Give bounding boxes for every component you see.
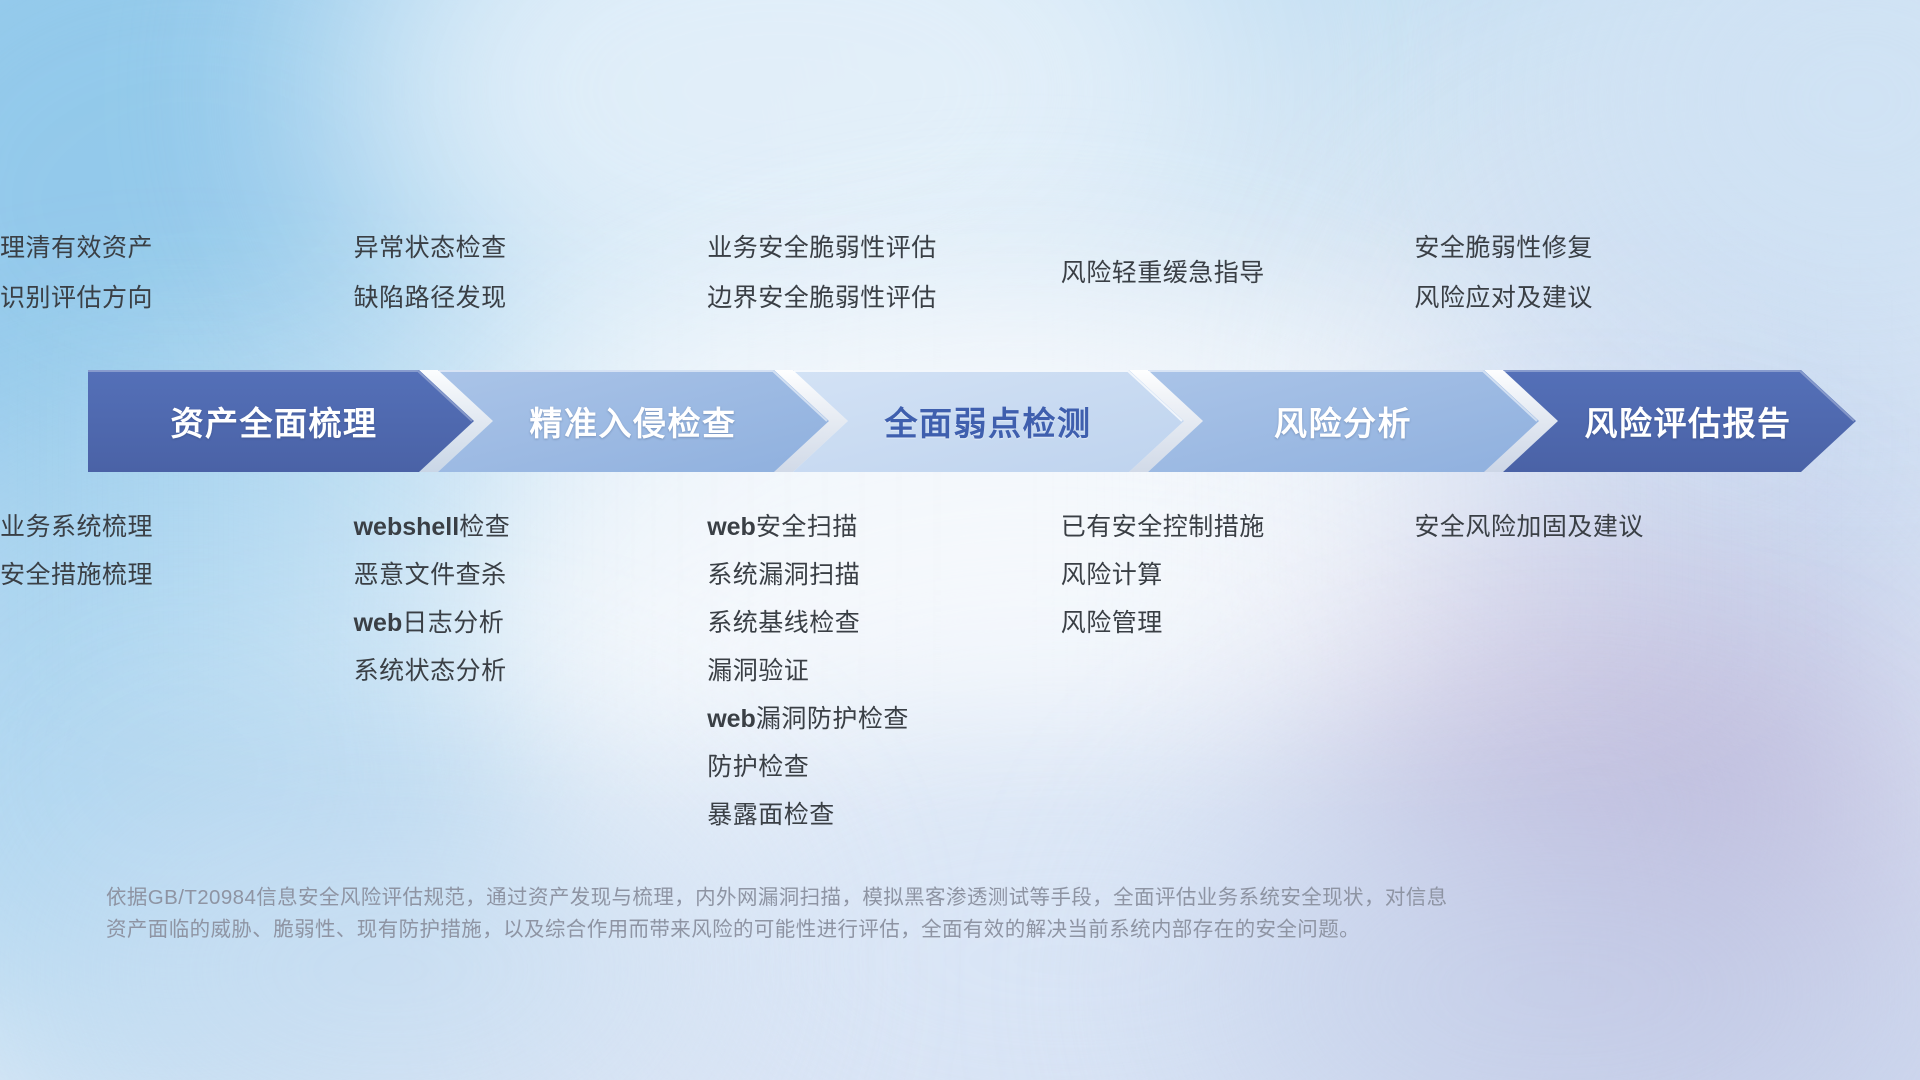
top-caption-column-intrusion-inspection: 异常状态检查缺陷路径发现: [354, 236, 708, 346]
bottom-caption-item: 风险管理: [1061, 611, 1415, 636]
bottom-caption-item: web安全扫描: [707, 515, 1061, 540]
bottom-caption-column-asset-inventory: 业务系统梳理安全措施梳理: [0, 515, 354, 1080]
top-caption-item: 风险应对及建议: [1414, 286, 1768, 311]
caption-latin-token: web: [707, 705, 756, 733]
bottom-caption-column-risk-report: 安全风险加固及建议: [1414, 515, 1768, 1080]
bottom-caption-item: 漏洞验证: [707, 659, 1061, 684]
bottom-caption-item: 业务系统梳理: [0, 515, 354, 540]
arrow-label-weakness-detection[interactable]: 全面弱点检测: [810, 370, 1166, 472]
caption-latin-token: webshell: [354, 513, 460, 541]
top-caption-item: 理清有效资产: [0, 236, 354, 261]
top-caption-item: 边界安全脆弱性评估: [707, 286, 1061, 311]
bottom-caption-item: 防护检查: [707, 755, 1061, 780]
bottom-caption-item: 风险计算: [1061, 563, 1415, 588]
bottom-caption-item: 系统状态分析: [354, 659, 708, 684]
arrow-label-risk-analysis[interactable]: 风险分析: [1165, 370, 1521, 472]
bottom-caption-item: 安全措施梳理: [0, 563, 354, 588]
bottom-caption-item: 系统漏洞扫描: [707, 563, 1061, 588]
top-caption-column-asset-inventory: 理清有效资产识别评估方向: [0, 236, 354, 346]
arrow-label-asset-inventory[interactable]: 资产全面梳理: [88, 370, 460, 472]
top-captions-row: 理清有效资产识别评估方向异常状态检查缺陷路径发现业务安全脆弱性评估边界安全脆弱性…: [0, 236, 1768, 346]
top-caption-column-risk-analysis: 风险轻重缓急指导: [1061, 236, 1415, 346]
top-caption-item: 异常状态检查: [354, 236, 708, 261]
footer-description: 依据GB/T20984信息安全风险评估规范，通过资产发现与梳理，内外网漏洞扫描，…: [106, 882, 1626, 946]
bottom-caption-item: 恶意文件查杀: [354, 563, 708, 588]
bottom-caption-item: web日志分析: [354, 611, 708, 636]
arrow-label-risk-report[interactable]: 风险评估报告: [1516, 370, 1860, 472]
bottom-caption-item: 暴露面检查: [707, 803, 1061, 828]
bottom-caption-column-risk-analysis: 已有安全控制措施风险计算风险管理: [1061, 515, 1415, 1080]
bottom-captions-row: 业务系统梳理安全措施梳理webshell检查恶意文件查杀web日志分析系统状态分…: [0, 515, 1768, 1080]
top-caption-column-weakness-detection: 业务安全脆弱性评估边界安全脆弱性评估: [707, 236, 1061, 346]
footer-line-2: 资产面临的威胁、脆弱性、现有防护措施，以及综合作用而带来风险的可能性进行评估，全…: [106, 914, 1626, 946]
top-caption-item: 业务安全脆弱性评估: [707, 236, 1061, 261]
top-caption-column-risk-report: 安全脆弱性修复风险应对及建议: [1414, 236, 1768, 346]
bottom-caption-item: 已有安全控制措施: [1061, 515, 1415, 540]
slide-canvas: 理清有效资产识别评估方向异常状态检查缺陷路径发现业务安全脆弱性评估边界安全脆弱性…: [0, 0, 1920, 1080]
caption-latin-token: web: [707, 513, 756, 541]
bottom-caption-item: web漏洞防护检查: [707, 707, 1061, 732]
top-caption-item: 缺陷路径发现: [354, 286, 708, 311]
top-caption-item: 风险轻重缓急指导: [1061, 261, 1415, 286]
caption-latin-token: web: [354, 609, 403, 637]
bottom-caption-column-weakness-detection: web安全扫描系统漏洞扫描系统基线检查漏洞验证web漏洞防护检查防护检查暴露面检…: [707, 515, 1061, 1080]
process-arrow-band: 资产全面梳理精准入侵检查全面弱点检测风险分析风险评估报告: [88, 370, 1856, 472]
bottom-caption-item: 安全风险加固及建议: [1414, 515, 1768, 540]
footer-line-1: 依据GB/T20984信息安全风险评估规范，通过资产发现与梳理，内外网漏洞扫描，…: [106, 882, 1626, 914]
arrow-band-labels: 资产全面梳理精准入侵检查全面弱点检测风险分析风险评估报告: [88, 370, 1856, 472]
bottom-caption-item: webshell检查: [354, 515, 708, 540]
top-caption-item: 安全脆弱性修复: [1414, 236, 1768, 261]
arrow-label-intrusion-inspection[interactable]: 精准入侵检查: [453, 370, 813, 472]
bottom-caption-column-intrusion-inspection: webshell检查恶意文件查杀web日志分析系统状态分析: [354, 515, 708, 1080]
bottom-caption-item: 系统基线检查: [707, 611, 1061, 636]
top-caption-item: 识别评估方向: [0, 286, 354, 311]
